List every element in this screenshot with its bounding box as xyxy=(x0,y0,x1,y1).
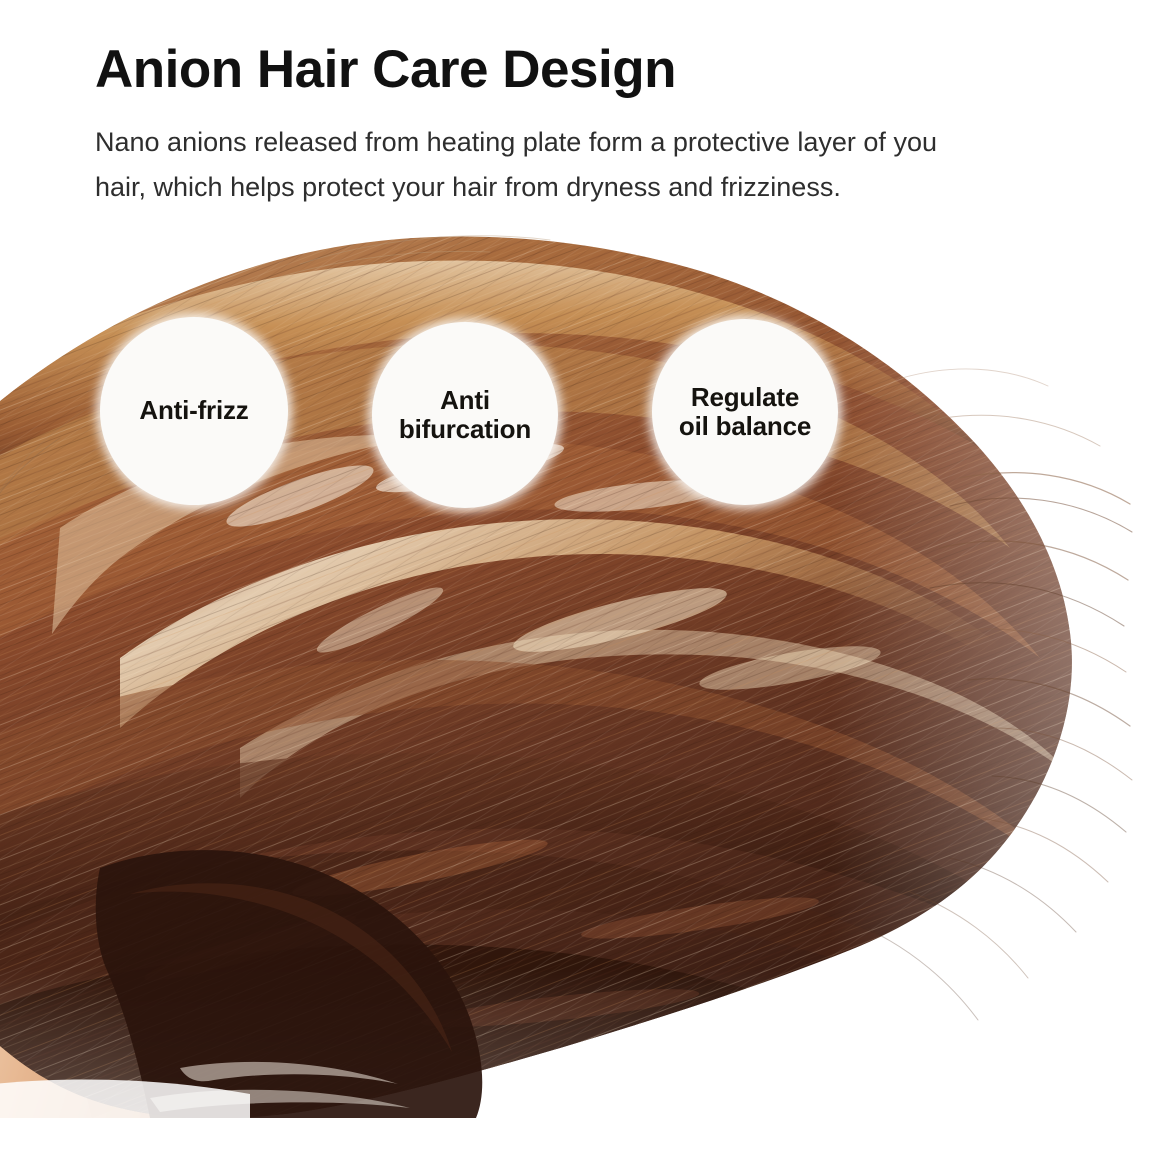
feature-badge-regulate-oil-balance[interactable]: Regulate oil balance xyxy=(652,319,838,505)
page-title: Anion Hair Care Design xyxy=(95,42,1015,98)
feature-badge-anti-frizz[interactable]: Anti-frizz xyxy=(100,317,288,505)
feature-badge-anti-bifurcation[interactable]: Anti bifurcation xyxy=(372,322,558,508)
feature-badge-label: Regulate oil balance xyxy=(673,383,817,441)
product-infographic: Anion Hair Care Design Nano anions relea… xyxy=(0,0,1160,1174)
feature-badge-label: Anti bifurcation xyxy=(393,386,537,444)
bottom-white-margin xyxy=(0,1118,1160,1174)
header-text-block: Anion Hair Care Design Nano anions relea… xyxy=(95,42,1015,210)
page-subtitle: Nano anions released from heating plate … xyxy=(95,120,995,210)
feature-badge-label: Anti-frizz xyxy=(133,396,254,425)
